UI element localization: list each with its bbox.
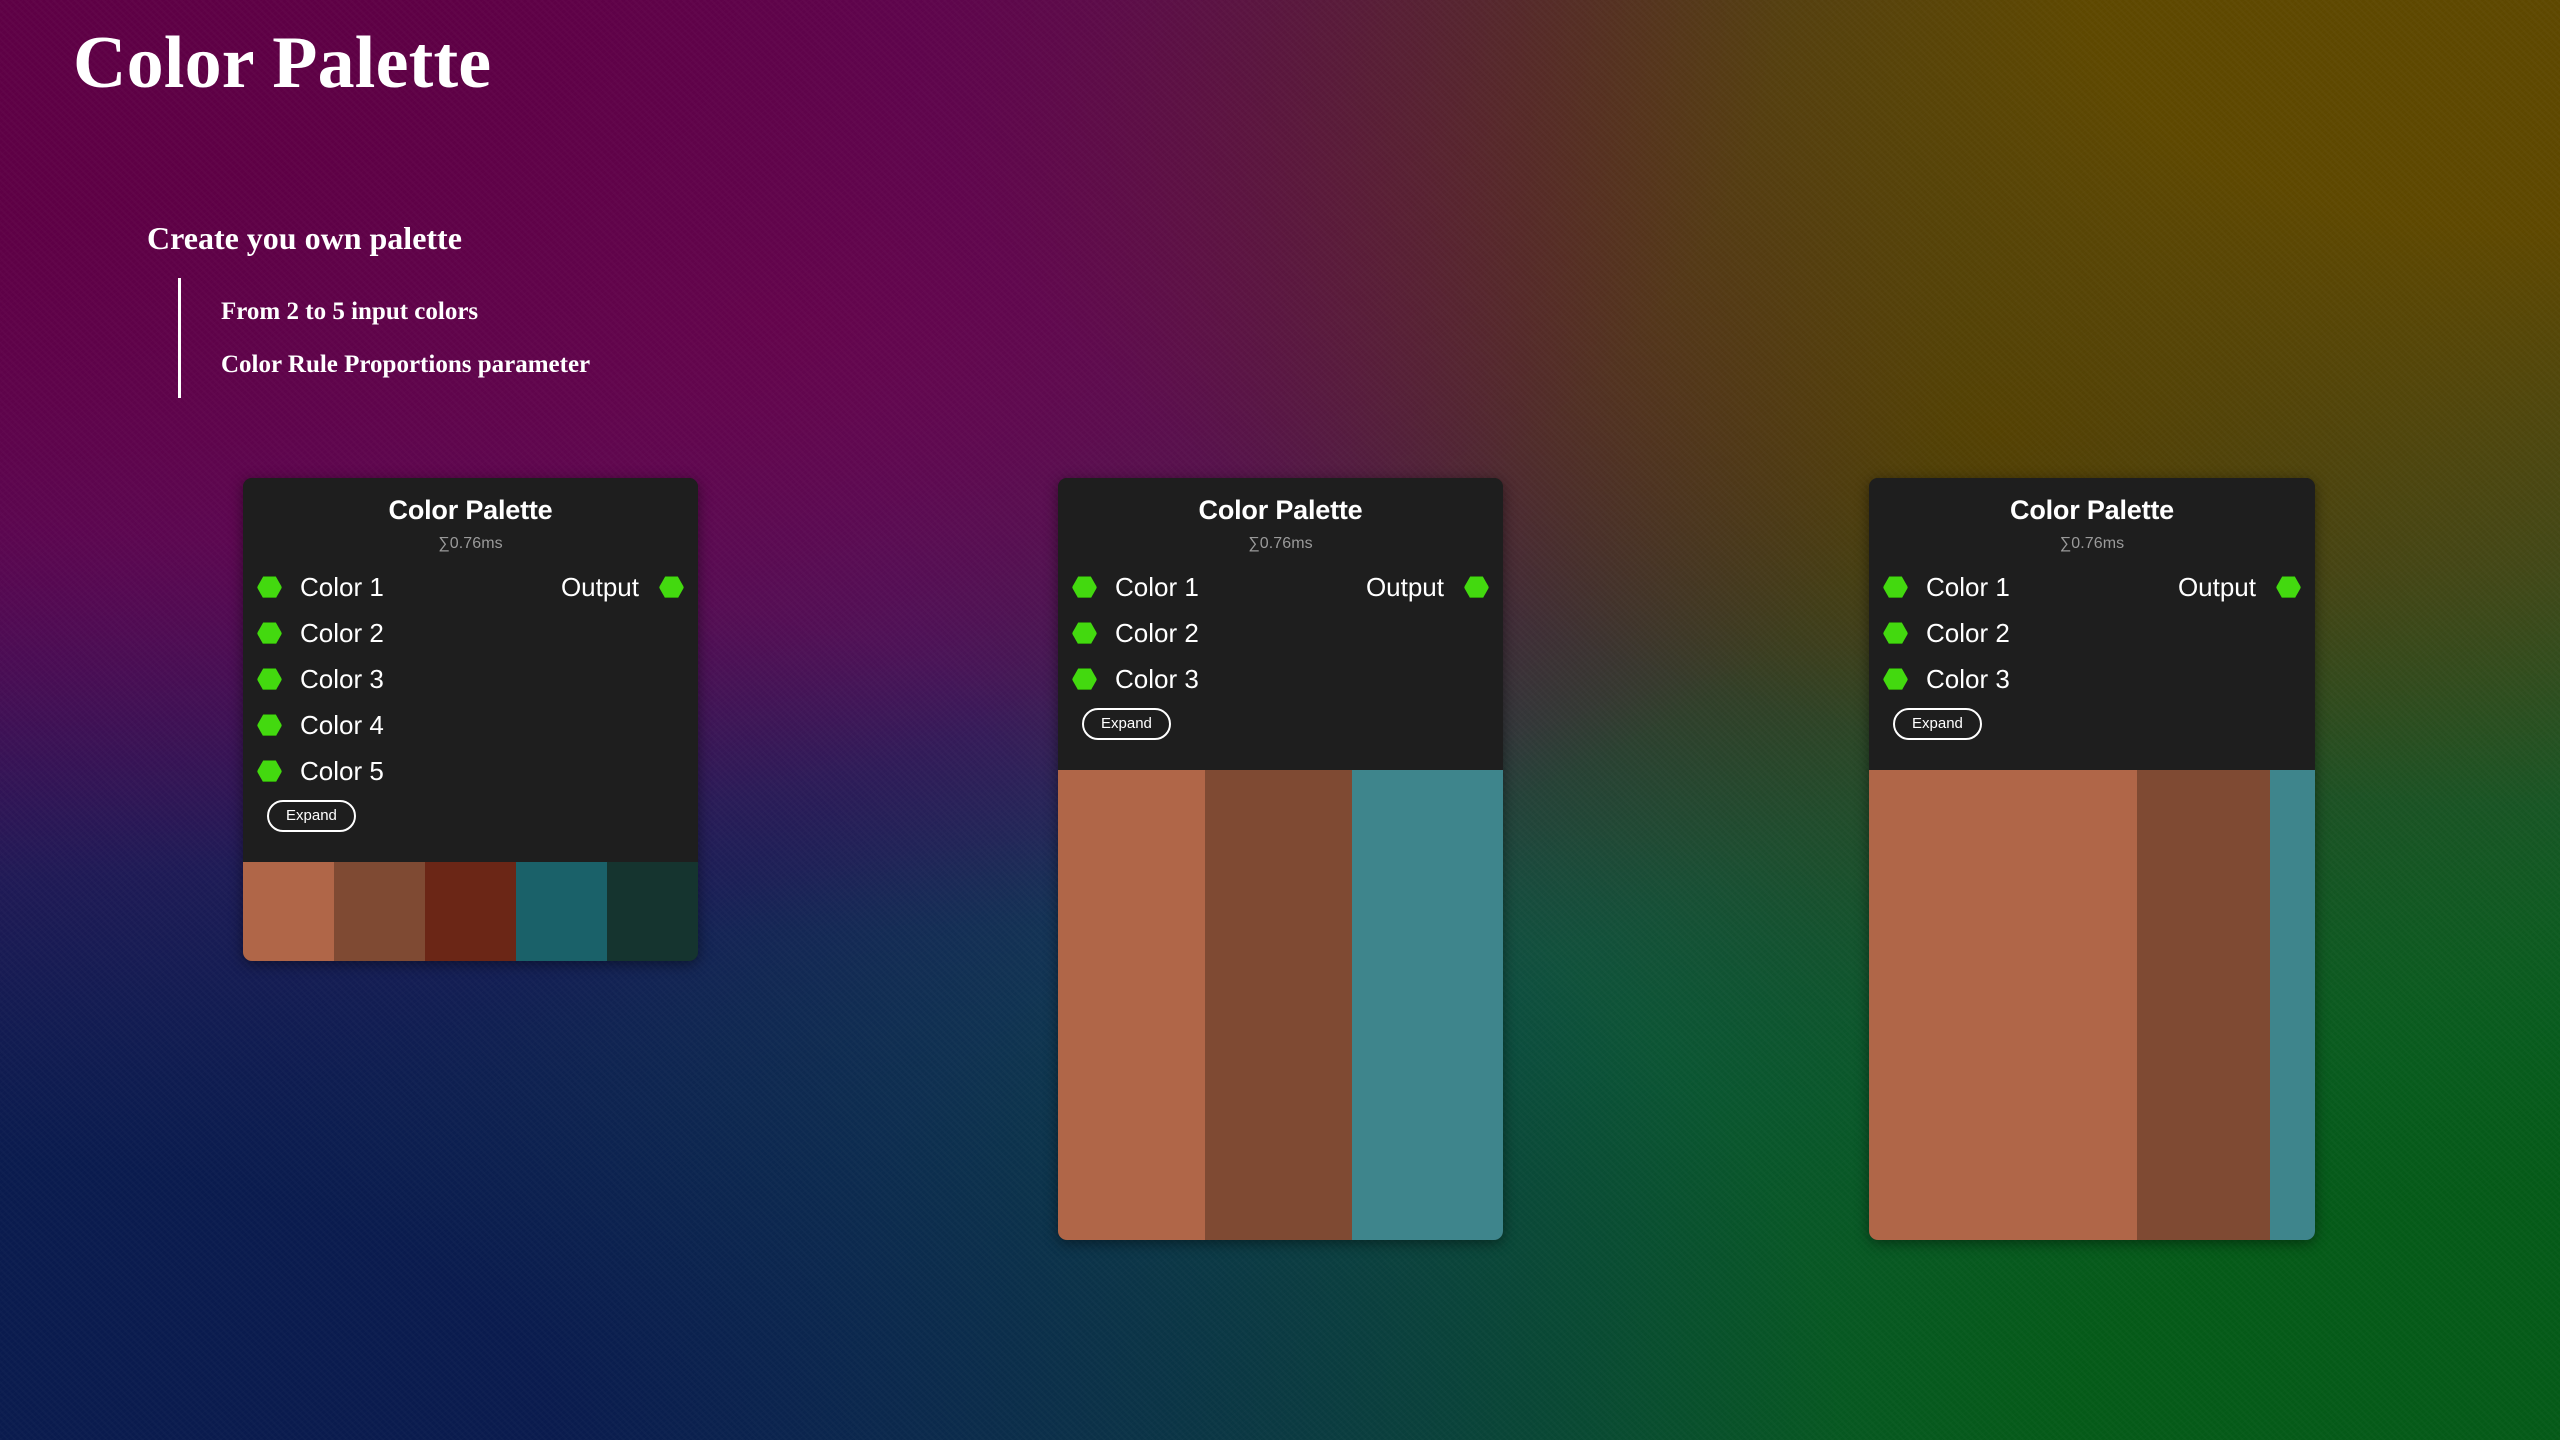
palette-swatch	[2137, 770, 2271, 1240]
input-port-label: Color 2	[300, 620, 384, 646]
palette-swatch	[2270, 770, 2315, 1240]
palette-swatch	[425, 862, 516, 961]
node-header: Color Palette ∑0.76ms Color 1 Output Col…	[1058, 478, 1503, 770]
node-title: Color Palette	[1869, 494, 2315, 526]
expand-button[interactable]: Expand	[1082, 708, 1171, 740]
feature-bullet-item: Color Rule Proportions parameter	[221, 351, 590, 379]
expand-button-wrap: Expand	[1058, 702, 1503, 756]
input-port-row[interactable]: Color 3	[1058, 656, 1503, 702]
input-port-hexagon-icon[interactable]	[1072, 622, 1097, 644]
input-port-hexagon-icon[interactable]	[257, 714, 282, 736]
input-port-label: Color 3	[1926, 666, 2010, 692]
palette-swatch	[1058, 770, 1205, 1240]
palette-swatch	[243, 862, 334, 961]
palette-swatch	[607, 862, 698, 961]
input-port-hexagon-icon[interactable]	[1072, 576, 1097, 598]
input-port-row[interactable]: Color 3	[243, 656, 698, 702]
input-port-label: Color 5	[300, 758, 384, 784]
output-port-group[interactable]: Output	[1366, 564, 1489, 610]
input-port-hexagon-icon[interactable]	[1883, 668, 1908, 690]
input-port-label: Color 1	[1926, 574, 2010, 600]
expand-button-wrap: Expand	[1869, 702, 2315, 756]
input-port-row[interactable]: Color 2	[243, 610, 698, 656]
palette-swatch	[1352, 770, 1503, 1240]
input-port-label: Color 2	[1926, 620, 2010, 646]
page-subtitle: Create you own palette	[147, 220, 462, 257]
input-port-row[interactable]: Color 3	[1869, 656, 2315, 702]
input-port-hexagon-icon[interactable]	[1883, 622, 1908, 644]
input-port-label: Color 1	[300, 574, 384, 600]
input-port-hexagon-icon[interactable]	[1883, 576, 1908, 598]
palette-swatch	[334, 862, 425, 961]
input-port-hexagon-icon[interactable]	[257, 668, 282, 690]
input-port-row[interactable]: Color 2	[1869, 610, 2315, 656]
input-port-hexagon-icon[interactable]	[257, 760, 282, 782]
node-port-list: Color 1 Output Color 2 Color 3	[1058, 564, 1503, 702]
input-port-row[interactable]: Color 4	[243, 702, 698, 748]
input-port-label: Color 2	[1115, 620, 1199, 646]
node-header: Color Palette ∑0.76ms Color 1 Output Col…	[1869, 478, 2315, 770]
node-header: Color Palette ∑0.76ms Color 1 Output Col…	[243, 478, 698, 862]
input-port-hexagon-icon[interactable]	[257, 576, 282, 598]
input-port-row[interactable]: Color 1 Output	[1058, 564, 1503, 610]
output-port-label: Output	[1366, 574, 1444, 600]
palette-swatch	[1205, 770, 1352, 1240]
input-port-row[interactable]: Color 1 Output	[243, 564, 698, 610]
output-port-hexagon-icon[interactable]	[659, 576, 684, 598]
page-title: Color Palette	[73, 25, 491, 103]
output-port-group[interactable]: Output	[2178, 564, 2301, 610]
output-port-hexagon-icon[interactable]	[2276, 576, 2301, 598]
node-port-list: Color 1 Output Color 2 Color 3 Color 4	[243, 564, 698, 794]
color-palette-node-card[interactable]: Color Palette ∑0.76ms Color 1 Output Col…	[1058, 478, 1503, 1240]
feature-bullet-list: From 2 to 5 input colors Color Rule Prop…	[178, 278, 590, 398]
color-palette-node-card[interactable]: Color Palette ∑0.76ms Color 1 Output Col…	[243, 478, 698, 961]
input-port-hexagon-icon[interactable]	[257, 622, 282, 644]
output-port-label: Output	[561, 574, 639, 600]
color-palette-node-card[interactable]: Color Palette ∑0.76ms Color 1 Output Col…	[1869, 478, 2315, 1240]
output-port-group[interactable]: Output	[561, 564, 684, 610]
node-title: Color Palette	[243, 494, 698, 526]
input-port-row[interactable]: Color 2	[1058, 610, 1503, 656]
input-port-row[interactable]: Color 5	[243, 748, 698, 794]
node-timing-label: ∑0.76ms	[243, 535, 698, 553]
input-port-row[interactable]: Color 1 Output	[1869, 564, 2315, 610]
output-port-hexagon-icon[interactable]	[1464, 576, 1489, 598]
expand-button-wrap: Expand	[243, 794, 698, 848]
expand-button[interactable]: Expand	[267, 800, 356, 832]
node-timing-label: ∑0.76ms	[1058, 535, 1503, 553]
input-port-label: Color 3	[1115, 666, 1199, 692]
node-timing-label: ∑0.76ms	[1869, 535, 2315, 553]
node-title: Color Palette	[1058, 494, 1503, 526]
input-port-label: Color 1	[1115, 574, 1199, 600]
input-port-label: Color 4	[300, 712, 384, 738]
output-port-label: Output	[2178, 574, 2256, 600]
node-port-list: Color 1 Output Color 2 Color 3	[1869, 564, 2315, 702]
expand-button[interactable]: Expand	[1893, 708, 1982, 740]
palette-swatch-strip	[1869, 770, 2315, 1240]
palette-swatch-strip	[1058, 770, 1503, 1240]
input-port-label: Color 3	[300, 666, 384, 692]
palette-swatch	[1869, 770, 2137, 1240]
input-port-hexagon-icon[interactable]	[1072, 668, 1097, 690]
feature-bullet-item: From 2 to 5 input colors	[221, 298, 590, 326]
palette-swatch	[516, 862, 607, 961]
palette-swatch-strip	[243, 862, 698, 961]
